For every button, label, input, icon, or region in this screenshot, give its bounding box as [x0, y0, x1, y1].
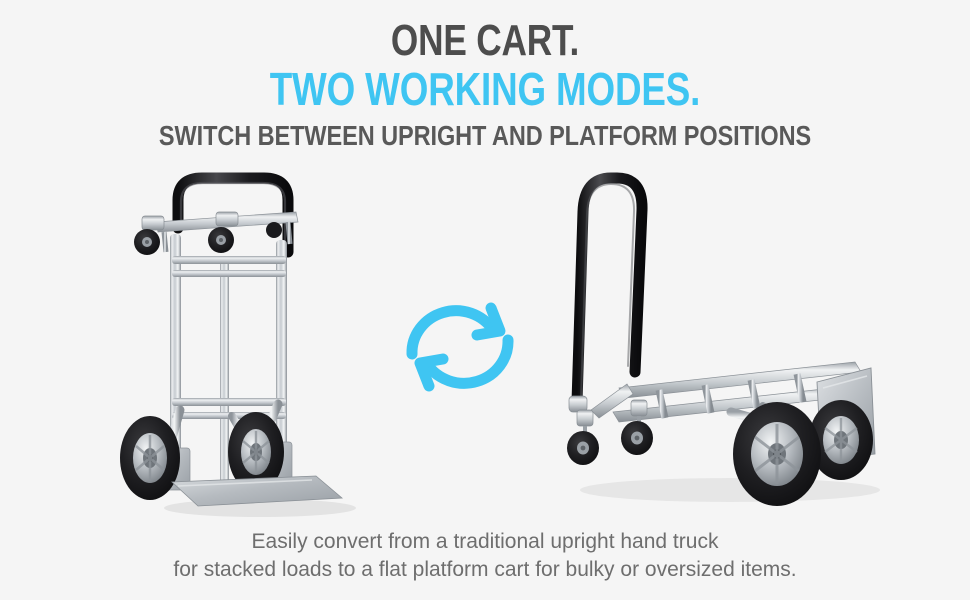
caption-line-two: for stacked loads to a flat platform car…: [0, 556, 970, 584]
platform-cart-illustration: [555, 160, 900, 525]
ground-shadow: [580, 478, 880, 502]
push-handle: [577, 178, 642, 402]
upright-hand-truck-illustration: [120, 160, 380, 520]
caster-wheel-top-left: [134, 216, 164, 255]
caption-block: Easily convert from a traditional uprigh…: [0, 528, 970, 585]
headline-block: ONE CART. TWO WORKING MODES. SWITCH BETW…: [0, 18, 970, 152]
wheel-large-left: [120, 416, 180, 500]
headline-line-one: ONE CART.: [97, 18, 873, 64]
headline-line-two: TWO WORKING MODES.: [97, 66, 873, 114]
handle-end-cap: [266, 222, 282, 238]
convert-refresh-icon: [399, 292, 521, 400]
headline-subline: SWITCH BETWEEN UPRIGHT AND PLATFORM POSI…: [78, 120, 893, 152]
caption-line-one: Easily convert from a traditional uprigh…: [0, 528, 970, 556]
handle-socket: [569, 396, 587, 412]
wheel-large-near: [733, 402, 821, 506]
promo-banner: ONE CART. TWO WORKING MODES. SWITCH BETW…: [0, 0, 970, 600]
caster-wheel-front-outer: [567, 410, 599, 465]
